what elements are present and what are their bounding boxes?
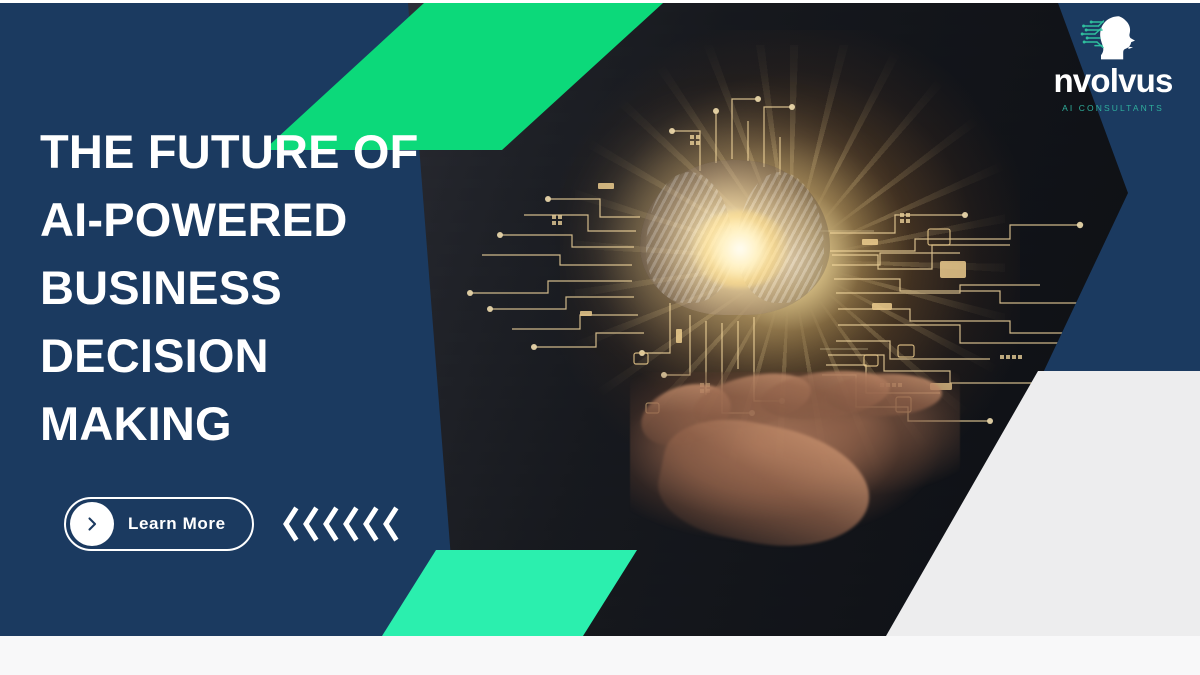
logo[interactable]: nvolvus AI CONSULTANTS (1036, 14, 1190, 113)
chevron-left-icon (301, 505, 320, 543)
headline-line-4: Decision (40, 322, 470, 390)
headline-line-5: Making (40, 390, 470, 458)
headline-line-2: AI-Powered (40, 186, 470, 254)
brain-core-glow (690, 210, 790, 288)
logo-tagline: AI CONSULTANTS (1062, 103, 1164, 113)
logo-wordmark: nvolvus (1053, 64, 1172, 97)
chevron-left-icon (341, 505, 360, 543)
ai-head-circuit-icon (1078, 14, 1148, 66)
chevron-left-icon (381, 505, 400, 543)
page-title: The Future of AI-Powered Business Decisi… (40, 118, 470, 458)
chevron-right-icon (70, 502, 114, 546)
headline-line-1: The Future of (40, 118, 470, 186)
learn-more-button[interactable]: Learn More (64, 497, 254, 551)
chevron-left-decoration (281, 505, 400, 543)
headline-line-3: Business (40, 254, 470, 322)
chevron-left-icon (281, 505, 300, 543)
top-white-strip (0, 0, 1200, 3)
chevron-left-icon (361, 505, 380, 543)
cta-row: Learn More (64, 497, 400, 551)
chevron-left-icon (321, 505, 340, 543)
learn-more-label: Learn More (128, 514, 226, 534)
bottom-white-strip (0, 636, 1200, 675)
marketing-banner: The Future of AI-Powered Business Decisi… (0, 0, 1200, 675)
open-hand-icon (630, 372, 960, 602)
